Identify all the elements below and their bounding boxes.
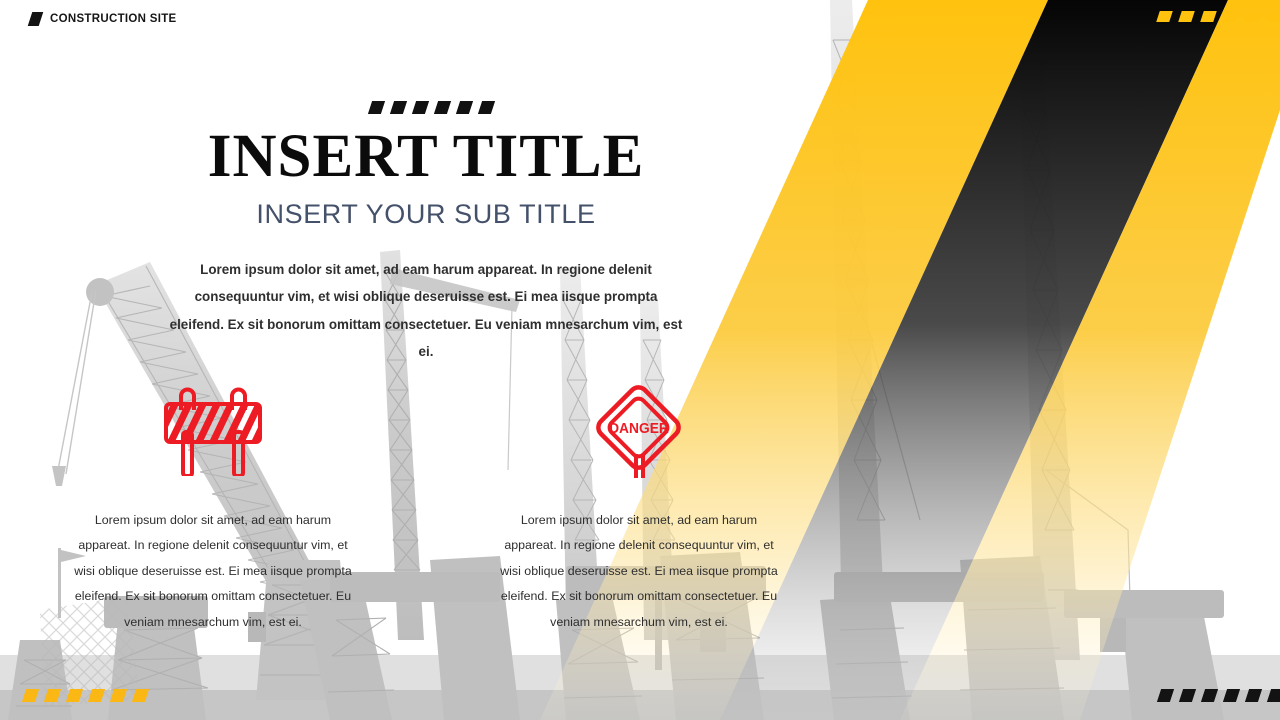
slant-bar-icon	[28, 12, 44, 26]
top-right-dash-decoration	[1158, 11, 1280, 22]
dash-mark	[456, 101, 473, 114]
dash-mark	[1267, 689, 1280, 702]
dash-mark	[1200, 11, 1217, 22]
slide-header: CONSTRUCTION SITE	[30, 12, 177, 26]
dash-mark	[1245, 689, 1262, 702]
dash-mark	[110, 689, 127, 702]
dash-mark	[434, 101, 451, 114]
dash-mark	[1223, 689, 1240, 702]
road-barricade-icon	[161, 375, 265, 480]
dash-mark	[1156, 11, 1173, 22]
feature-column-barricade: Lorem ipsum dolor sit amet, ad eam harum…	[0, 375, 426, 635]
dash-mark	[412, 101, 429, 114]
dash-mark	[66, 689, 83, 702]
dash-mark	[1201, 689, 1218, 702]
hero-block: INSERT TITLE INSERT YOUR SUB TITLE Lorem…	[0, 126, 852, 366]
danger-sign-label: DANGER	[609, 420, 669, 437]
feature-column-body: Lorem ipsum dolor sit amet, ad eam harum…	[494, 508, 784, 635]
title-dash-decoration	[370, 101, 493, 114]
dash-mark	[390, 101, 407, 114]
dash-mark	[44, 689, 61, 702]
bottom-right-dash-decoration	[1159, 689, 1280, 702]
dash-mark	[1244, 11, 1261, 22]
feature-columns: Lorem ipsum dolor sit amet, ad eam harum…	[0, 375, 852, 635]
page-subtitle: INSERT YOUR SUB TITLE	[0, 199, 852, 230]
dash-mark	[1266, 11, 1280, 22]
dash-mark	[1179, 689, 1196, 702]
feature-column-danger: DANGER Lorem ipsum dolor sit amet, ad ea…	[426, 375, 852, 635]
dash-mark	[1222, 11, 1239, 22]
page-title: INSERT TITLE	[0, 126, 852, 187]
hero-body-text: Lorem ipsum dolor sit amet, ad eam harum…	[166, 256, 686, 366]
feature-column-body: Lorem ipsum dolor sit amet, ad eam harum…	[68, 508, 358, 635]
dash-mark	[22, 689, 39, 702]
bottom-left-dash-decoration	[24, 689, 147, 702]
danger-sign-icon: DANGER	[587, 375, 691, 480]
dash-mark	[1178, 11, 1195, 22]
dash-mark	[132, 689, 149, 702]
header-title: CONSTRUCTION SITE	[50, 13, 177, 25]
dash-mark	[368, 101, 385, 114]
dash-mark	[88, 689, 105, 702]
dash-mark	[478, 101, 495, 114]
dash-mark	[1157, 689, 1174, 702]
